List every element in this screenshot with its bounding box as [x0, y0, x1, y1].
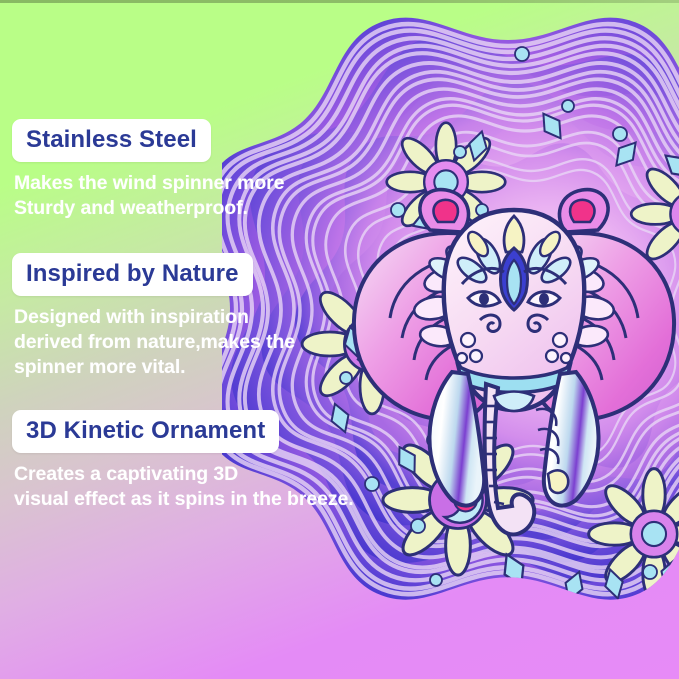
mandala-flower: [589, 469, 679, 600]
elephant-forehead-ornament: [454, 216, 575, 310]
spinner-ring-6: [312, 89, 679, 540]
feature-heading-chip: Stainless Steel: [12, 119, 211, 162]
feature-block-stainless-steel: Stainless Steel Makes the wind spinner m…: [12, 119, 284, 221]
lower-face-ornament: [494, 392, 568, 493]
elephant-trunk: [485, 384, 535, 534]
elephant-eyes: [468, 292, 560, 332]
elephant-tusk-right: [544, 372, 599, 506]
cheek-dots: [457, 333, 571, 363]
dot-accent-group: [340, 47, 679, 624]
feature-block-inspired-by-nature: Inspired by Nature Designed with inspira…: [12, 253, 295, 380]
feature-body-text: Designed with inspiration derived from n…: [14, 305, 295, 380]
top-edge-rim: [0, 0, 679, 3]
feature-heading-label: 3D Kinetic Ornament: [26, 418, 265, 444]
mandala-flower: [383, 425, 533, 575]
mandala-flower: [302, 274, 442, 414]
feature-body-text: Makes the wind spinner more Sturdy and w…: [14, 171, 284, 221]
elephant-face: [444, 210, 585, 410]
feature-heading-label: Inspired by Nature: [26, 261, 239, 287]
feature-heading-label: Stainless Steel: [26, 127, 197, 153]
feature-block-3d-kinetic-ornament: 3D Kinetic Ornament Creates a captivatin…: [12, 410, 354, 512]
mandala-flower: [387, 123, 506, 242]
feature-heading-chip: Inspired by Nature: [12, 253, 253, 296]
trunk-ridges: [486, 406, 504, 504]
feature-heading-chip: 3D Kinetic Ornament: [12, 410, 279, 453]
mandala-flower: [631, 153, 679, 275]
elephant-tusk-left: [429, 372, 484, 506]
feature-body-text: Creates a captivating 3D visual effect a…: [14, 462, 354, 512]
elephant-ear-right: [526, 190, 674, 421]
elephant-ear-left: [354, 190, 502, 421]
elephant-headband: [458, 366, 570, 393]
mandala-flower-group: [302, 123, 679, 600]
product-feature-poster: Stainless Steel Makes the wind spinner m…: [0, 0, 679, 679]
diamond-accent-group: [326, 109, 679, 604]
elephant-head-ornament: [354, 190, 674, 535]
